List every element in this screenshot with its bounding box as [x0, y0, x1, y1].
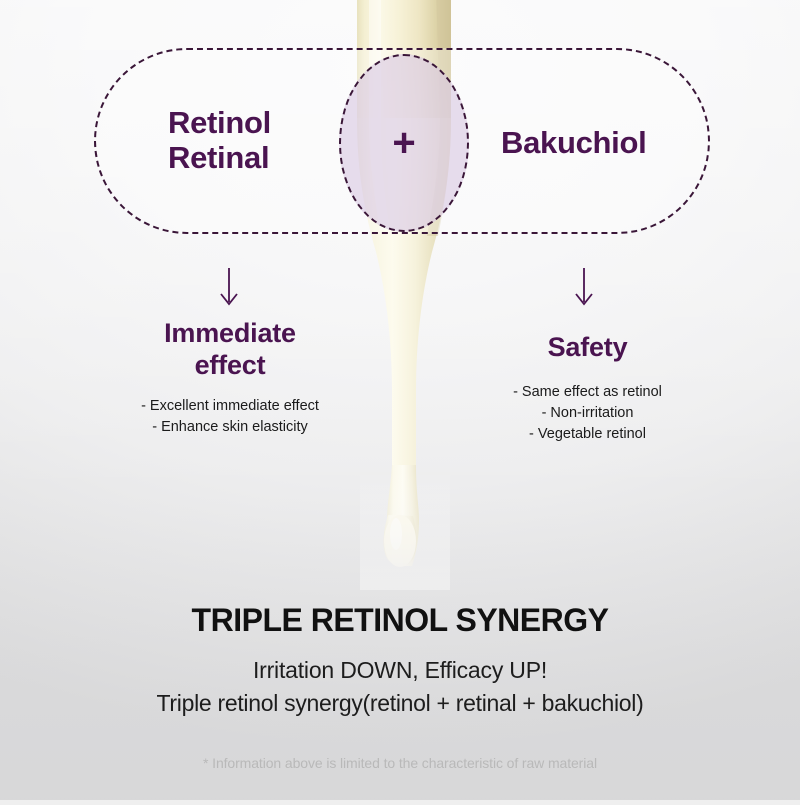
list-item: - Same effect as retinol [455, 382, 720, 403]
subtitle-line-1: Irritation DOWN, Efficacy UP! [0, 657, 800, 684]
summary-block: TRIPLE RETINOL SYNERGY Irritation DOWN, … [0, 602, 800, 771]
synergy-diagram: Retinol Retinal + Bakuchiol [0, 0, 800, 250]
list-item: - Enhance skin elasticity [100, 417, 360, 438]
benefit-list: - Same effect as retinol - Non-irritatio… [455, 382, 720, 445]
arrow-down-icon-left [212, 268, 246, 315]
list-item: - Excellent immediate effect [100, 396, 360, 417]
benefit-title: Safety [455, 332, 720, 364]
page-title: TRIPLE RETINOL SYNERGY [0, 602, 800, 639]
footnote-disclaimer: * Information above is limited to the ch… [0, 755, 800, 771]
benefit-column-immediate-effect: Immediate effect - Excellent immediate e… [100, 318, 360, 438]
benefit-title: Immediate effect [100, 318, 360, 382]
benefit-column-safety: Safety - Same effect as retinol - Non-ir… [455, 332, 720, 445]
arrow-down-icon-right [567, 268, 601, 315]
benefit-list: - Excellent immediate effect - Enhance s… [100, 396, 360, 438]
list-item: - Non-irritation [455, 403, 720, 424]
subtitle-line-2: Triple retinol synergy(retinol + retinal… [0, 690, 800, 717]
plus-icon: + [380, 122, 428, 164]
ingredient-label-retinol: Retinol Retinal [168, 106, 271, 175]
list-item: - Vegetable retinol [455, 424, 720, 445]
ingredient-label-bakuchiol: Bakuchiol [501, 126, 646, 161]
